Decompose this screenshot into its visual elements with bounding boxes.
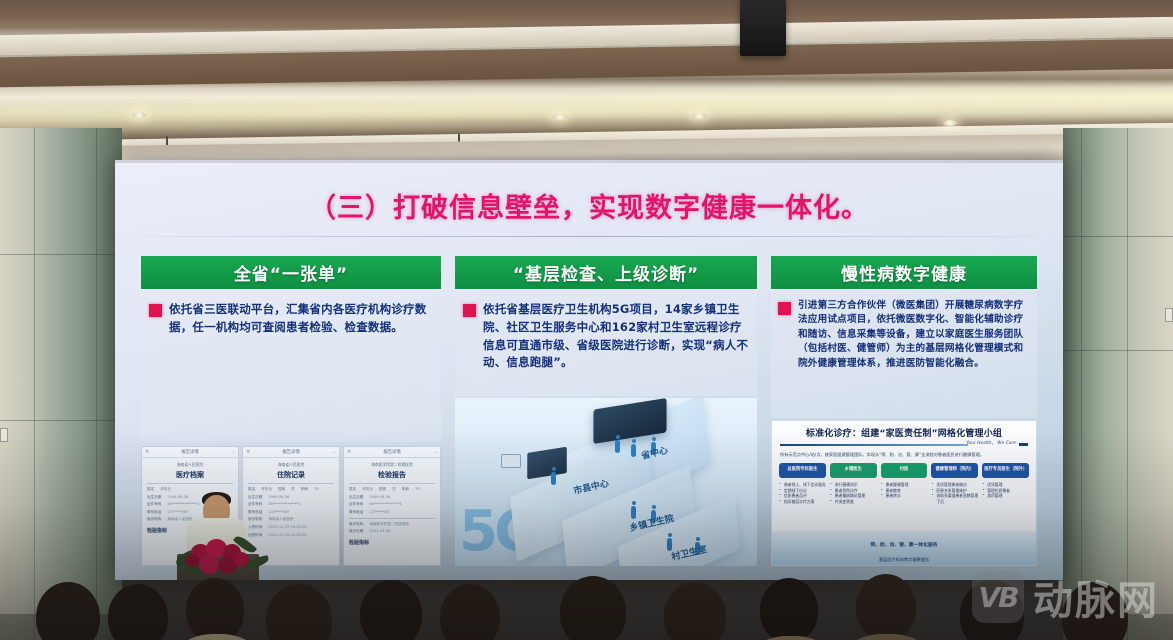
panel-body: 依托省基层医疗卫生机构5G项目，14家乡镇卫生院、社区卫生服务中心和162家村卫… [455,289,757,396]
panel-header: 全省“一张单” [141,256,441,289]
bullet-square-icon [778,302,791,315]
bullet-square-icon [463,304,476,317]
title-divider [141,236,1037,237]
bullet-square-icon [149,304,162,317]
downlight-icon [692,113,706,119]
panel-body: 依托省三医联动平台，汇集省内各医疗机构诊疗数据，任一机构均可查阅患者检验、检查数… [141,289,441,442]
watermark-badge: VB [972,571,1024,623]
ceiling-speaker [740,0,786,56]
panel-body-text: 依托省基层医疗卫生机构5G项目，14家乡镇卫生院、社区卫生服务中心和162家村卫… [483,301,749,390]
ceiling [0,0,1173,152]
panel-body-text: 引进第三方合作伙伴（微医集团）开展糖尿病数字疗法应用试点项目，依托微医数字化、智… [798,299,1030,414]
panel-body: 引进第三方合作伙伴（微医集团）开展糖尿病数字疗法应用试点项目，依托微医数字化、智… [771,289,1037,418]
exit-sign-icon [1165,308,1173,322]
panel-header: “基层检查、上级诊断” [455,256,757,289]
screen-rail [115,160,1063,163]
watermark-logo-text: VB [978,581,1017,614]
watermark-brand-text: 动脉网 [1033,568,1159,626]
downlight-icon [943,120,957,126]
watermark: VB 动脉网 [972,568,1159,626]
downlight-icon [132,112,146,118]
panel-body-text: 依托省三医联动平台，汇集省内各医疗机构诊疗数据，任一机构均可查阅患者检验、检查数… [169,301,433,436]
slide-title: （三）打破信息壁垒，实现数字健康一体化。 [115,186,1063,225]
downlight-icon [553,114,567,120]
panel-header: 慢性病数字健康 [771,256,1037,289]
conference-hall-photo: （三）打破信息壁垒，实现数字健康一体化。 全省“一张单” 依托省三医联动平台，汇… [0,0,1173,640]
